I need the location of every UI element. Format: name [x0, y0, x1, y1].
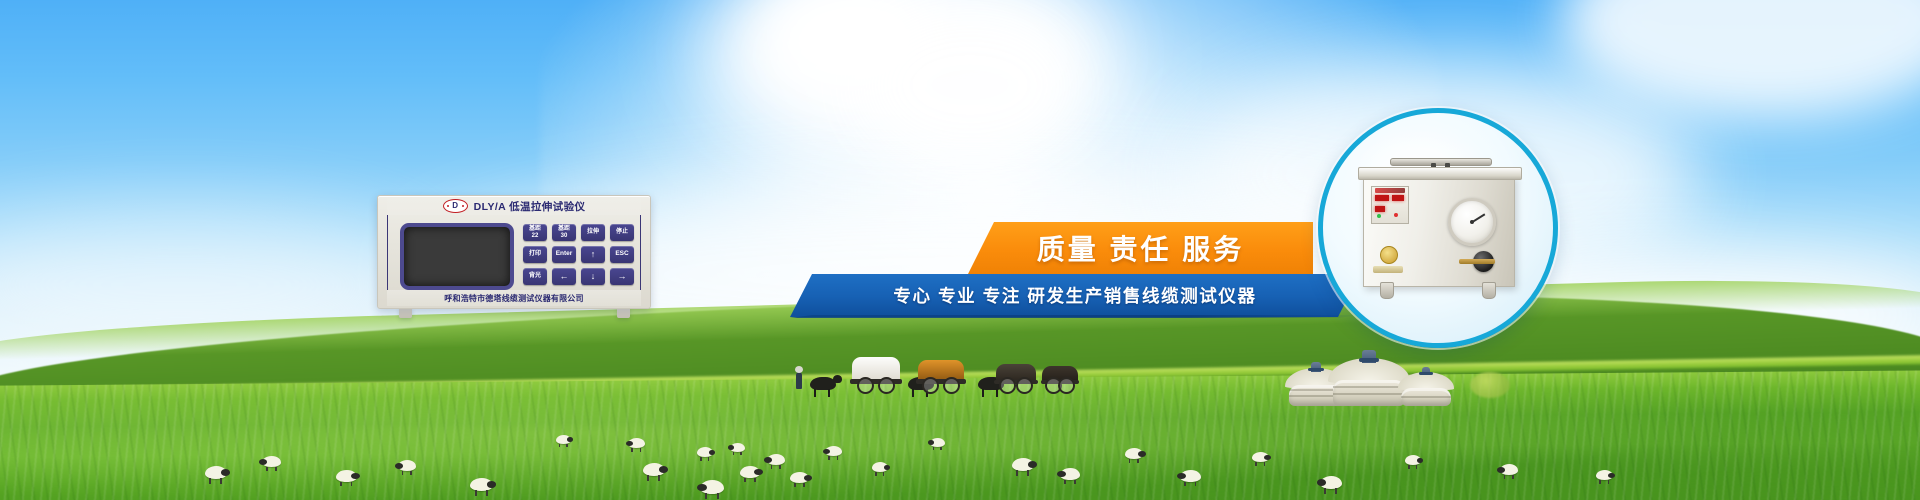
lid-handle-icon [1390, 158, 1492, 166]
herder-figure [796, 372, 802, 389]
key-arrow-right[interactable]: → [610, 268, 634, 285]
test-chamber-product [1363, 175, 1515, 287]
slogan-secondary-text: 专心 专业 专注 研发生产销售线缆测试仪器 [893, 283, 1256, 308]
key-esc[interactable]: ESC [610, 246, 634, 263]
sheep [825, 446, 842, 456]
ox-cart-caravan [790, 352, 1080, 398]
device-keypad: 基距 22 基距 30 拉伸 停止 打印 Enter ↑ ESC 背光 ← ↓ … [523, 224, 634, 285]
sheep [336, 470, 357, 482]
logo-letter: D [452, 202, 458, 210]
chamber-lid [1358, 167, 1522, 180]
brand-emblem-icon [1380, 246, 1398, 264]
key-arrow-up[interactable]: ↑ [581, 246, 605, 263]
sheep [930, 438, 945, 447]
sheep [1125, 448, 1143, 459]
chamber-control-panel [1371, 186, 1409, 224]
sheep [872, 462, 888, 472]
brand-nameplate [1373, 266, 1403, 273]
sheep [1500, 464, 1518, 475]
device-model-title: DLY/A 低温拉伸试验仪 [474, 199, 586, 214]
tensile-tester-device: D DLY/A 低温拉伸试验仪 基距 22 基距 30 拉伸 停止 打印 Ent… [377, 195, 651, 309]
caster-wheel-left [1380, 282, 1394, 299]
sheep [1060, 468, 1080, 480]
sheep [205, 466, 227, 479]
slogan-band-primary: 质量 责任 服务 [968, 222, 1313, 274]
key-enter[interactable]: Enter [552, 246, 576, 263]
sheep [628, 438, 645, 448]
sheep [1252, 452, 1269, 462]
sheep [262, 456, 281, 467]
cart-4 [1042, 370, 1078, 392]
slogan-band-secondary: 专心 专业 专注 研发生产销售线缆测试仪器 [790, 274, 1360, 317]
cart-1 [852, 358, 900, 392]
device-lcd-screen [400, 223, 514, 290]
key-base-22[interactable]: 基距 22 [523, 224, 547, 241]
device-header: D DLY/A 低温拉伸试验仪 [387, 197, 641, 215]
key-base-30[interactable]: 基距 30 [552, 224, 576, 241]
sheep [740, 466, 760, 478]
sheep [643, 463, 665, 476]
yurt-crown-icon [1422, 367, 1431, 376]
sheep [1012, 458, 1034, 471]
sheep [1405, 455, 1421, 465]
cart-3 [996, 368, 1036, 392]
indicator-lamp-red [1394, 213, 1398, 217]
sheep [470, 478, 493, 491]
key-stop[interactable]: 停止 [610, 224, 634, 241]
sheep [730, 443, 745, 452]
brand-logo-icon: D [443, 199, 468, 213]
slogan-band-shadow [790, 315, 1360, 318]
sheep [697, 447, 713, 457]
key-backlight[interactable]: 背光 [523, 268, 547, 285]
sheep [398, 460, 416, 471]
hero-banner: D DLY/A 低温拉伸试验仪 基距 22 基距 30 拉伸 停止 打印 Ent… [0, 0, 1920, 500]
yurt-crown-icon [1362, 350, 1375, 362]
cloud-puff-b [860, 10, 1080, 160]
yurt-crown-icon [1311, 362, 1321, 372]
valve-knob-icon [1473, 251, 1494, 272]
cart-2 [918, 362, 964, 392]
caster-wheel-right [1482, 282, 1496, 299]
sheep [700, 480, 724, 494]
product-photo-circle [1318, 108, 1558, 348]
sheep [767, 454, 785, 465]
key-stretch[interactable]: 拉伸 [581, 224, 605, 241]
device-company-name: 呼和浩特市德塔线缆测试仪器有限公司 [387, 290, 641, 306]
sheep [1320, 476, 1342, 489]
sheep [556, 435, 571, 444]
ox-1 [810, 377, 836, 390]
slogan-primary-text: 质量 责任 服务 [1037, 228, 1245, 268]
sheep [1596, 470, 1613, 480]
key-print[interactable]: 打印 [523, 246, 547, 263]
yurt-right [1398, 372, 1454, 406]
sheep [1180, 470, 1201, 482]
key-arrow-left[interactable]: ← [552, 268, 576, 285]
sheep [790, 472, 809, 483]
key-arrow-down[interactable]: ↓ [581, 268, 605, 285]
indicator-lamp-green [1377, 214, 1381, 218]
pressure-gauge-icon [1448, 198, 1496, 246]
bush-right [1470, 372, 1510, 398]
